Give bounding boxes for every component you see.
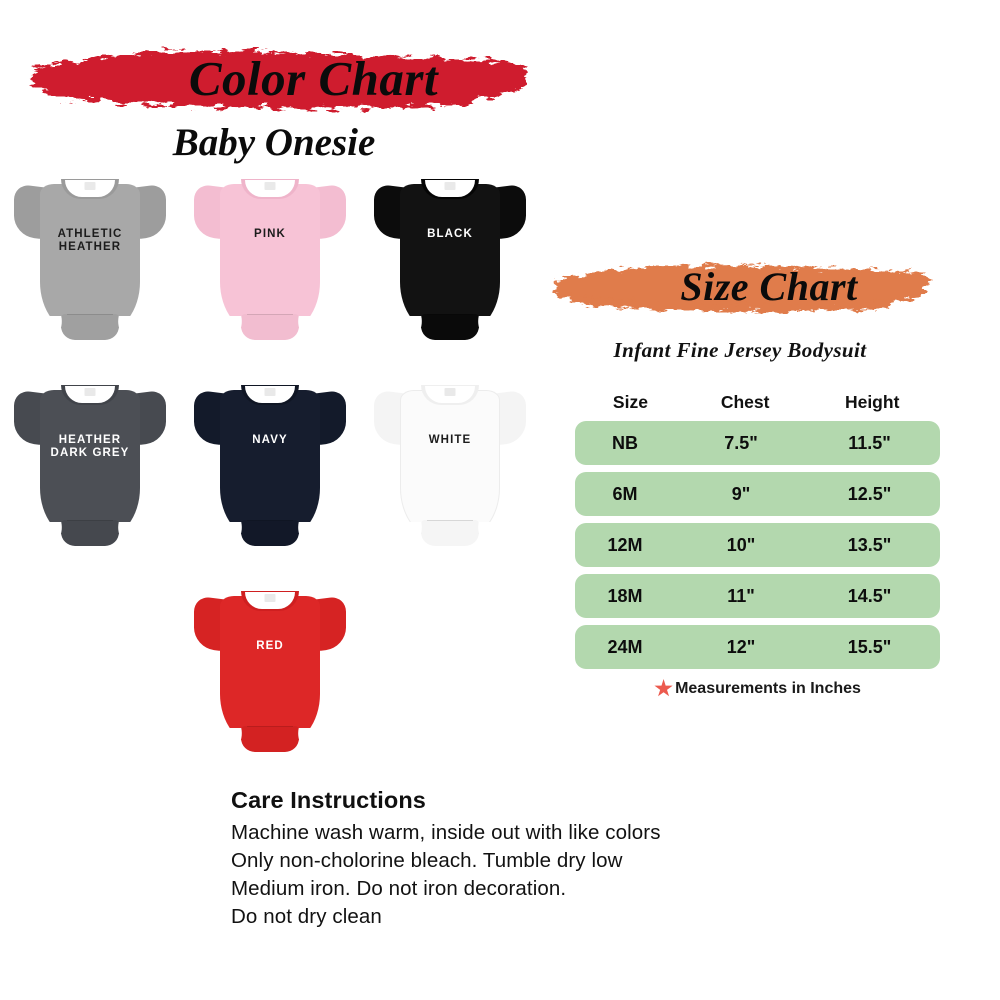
color-and-size-chart-page: Color Chart Baby Onesie ATHLETIC	[0, 0, 1000, 1000]
onesie-swatch-athletic-heather[interactable]: ATHLETIC HEATHER	[0, 176, 180, 376]
onesie-snap-gusset	[241, 520, 299, 546]
onesie-color-label-line1: BLACK	[427, 228, 473, 240]
onesie-tag	[85, 388, 96, 396]
table-row: 12M 10" 13.5"	[575, 523, 940, 567]
onesie-leg-cut-right	[473, 316, 509, 342]
onesie-tag	[265, 594, 276, 602]
onesie-snap-gusset	[241, 726, 299, 752]
table-row: 6M 9" 12.5"	[575, 472, 940, 516]
size-chart-banner: Size Chart	[540, 258, 940, 314]
onesie-color-label-line2: DARK GREY	[51, 447, 130, 459]
color-chart-banner: Color Chart	[14, 42, 539, 114]
onesie-leg-cut-right	[113, 522, 149, 548]
cell-height: 14.5"	[807, 586, 932, 607]
onesie-leg-cut-right	[293, 728, 329, 754]
onesie-row-2: HEATHER DARK GREY NAVY	[0, 382, 540, 582]
onesie-snap-gusset	[241, 314, 299, 340]
onesie-color-label: RED	[194, 640, 346, 653]
cell-size: 24M	[575, 637, 675, 658]
onesie-swatch-pink[interactable]: PINK	[180, 176, 360, 376]
onesie-snap-gusset	[61, 314, 119, 340]
onesie-swatch-heather-dark-grey[interactable]: HEATHER DARK GREY	[0, 382, 180, 582]
onesie-swatch-black[interactable]: BLACK	[360, 176, 540, 376]
onesie-color-label-line2: HEATHER	[59, 241, 121, 253]
onesie-color-label: BLACK	[374, 228, 526, 241]
cell-size: 18M	[575, 586, 675, 607]
care-instruction-line: Medium iron. Do not iron decoration.	[231, 877, 851, 901]
cell-chest: 11"	[675, 586, 807, 607]
onesie-body	[220, 596, 320, 746]
onesie-color-label: PINK	[194, 228, 346, 241]
cell-size: NB	[575, 433, 675, 454]
onesie-tag	[85, 182, 96, 190]
onesie-leg-cut-right	[473, 522, 509, 548]
measurements-footnote: Measurements in Inches	[575, 679, 940, 698]
size-chart-title: Size Chart	[540, 258, 940, 314]
onesie-tag	[445, 388, 456, 396]
size-table-header-row: Size Chest Height	[575, 392, 940, 421]
onesie-body	[40, 184, 140, 334]
onesie-color-label-line1: PINK	[254, 228, 286, 240]
cell-height: 11.5"	[807, 433, 932, 454]
cell-chest: 7.5"	[675, 433, 807, 454]
onesie-row-3: RED	[0, 588, 540, 788]
color-chart-subtitle: Baby Onesie	[14, 120, 534, 165]
onesie-color-label-line1: WHITE	[429, 434, 472, 446]
onesie-leg-cut-right	[293, 522, 329, 548]
onesie-color-label: NAVY	[194, 434, 346, 447]
cell-chest: 12"	[675, 637, 807, 658]
care-instruction-line: Do not dry clean	[231, 905, 851, 929]
cell-chest: 10"	[675, 535, 807, 556]
onesie-body	[400, 184, 500, 334]
cell-height: 15.5"	[807, 637, 932, 658]
onesie-color-label: ATHLETIC HEATHER	[14, 228, 166, 254]
column-header-height: Height	[810, 392, 934, 413]
onesie-color-grid: ATHLETIC HEATHER PINK	[0, 176, 540, 766]
onesie-color-label-line1: RED	[256, 640, 284, 652]
measurements-footnote-label: Measurements in Inches	[675, 680, 861, 698]
onesie-swatch-navy[interactable]: NAVY	[180, 382, 360, 582]
care-instructions-heading: Care Instructions	[231, 787, 851, 814]
cell-chest: 9"	[675, 484, 807, 505]
care-instruction-line: Only non-cholorine bleach. Tumble dry lo…	[231, 849, 851, 873]
table-row: 18M 11" 14.5"	[575, 574, 940, 618]
onesie-swatch-white[interactable]: WHITE	[360, 382, 540, 582]
onesie-leg-cut-right	[293, 316, 329, 342]
onesie-swatch-red[interactable]: RED	[180, 588, 360, 788]
onesie-tag	[265, 182, 276, 190]
column-header-chest: Chest	[680, 392, 811, 413]
onesie-color-label-line1: ATHLETIC	[58, 228, 123, 240]
size-table: Size Chest Height NB 7.5" 11.5" 6M 9" 12…	[575, 392, 940, 698]
care-instruction-line: Machine wash warm, inside out with like …	[231, 821, 851, 845]
cell-size: 12M	[575, 535, 675, 556]
onesie-tag	[265, 388, 276, 396]
care-instructions: Care Instructions Machine wash warm, ins…	[231, 787, 851, 933]
color-chart-title: Color Chart	[14, 42, 539, 114]
onesie-snap-gusset	[61, 520, 119, 546]
onesie-body	[400, 390, 500, 540]
onesie-color-label-line1: HEATHER	[59, 434, 121, 446]
onesie-body	[220, 184, 320, 334]
onesie-body	[220, 390, 320, 540]
onesie-body	[40, 390, 140, 540]
size-chart-subtitle: Infant Fine Jersey Bodysuit	[540, 338, 940, 363]
table-row: 24M 12" 15.5"	[575, 625, 940, 669]
onesie-color-label: HEATHER DARK GREY	[14, 434, 166, 460]
onesie-snap-gusset	[421, 314, 479, 340]
onesie-color-label-line1: NAVY	[252, 434, 288, 446]
onesie-leg-cut-right	[113, 316, 149, 342]
onesie-color-label: WHITE	[374, 434, 526, 447]
onesie-snap-gusset	[421, 520, 479, 546]
onesie-row-1: ATHLETIC HEATHER PINK	[0, 176, 540, 376]
onesie-tag	[445, 182, 456, 190]
column-header-size: Size	[581, 392, 680, 413]
star-icon	[654, 679, 673, 698]
cell-height: 13.5"	[807, 535, 932, 556]
cell-height: 12.5"	[807, 484, 932, 505]
table-row: NB 7.5" 11.5"	[575, 421, 940, 465]
cell-size: 6M	[575, 484, 675, 505]
